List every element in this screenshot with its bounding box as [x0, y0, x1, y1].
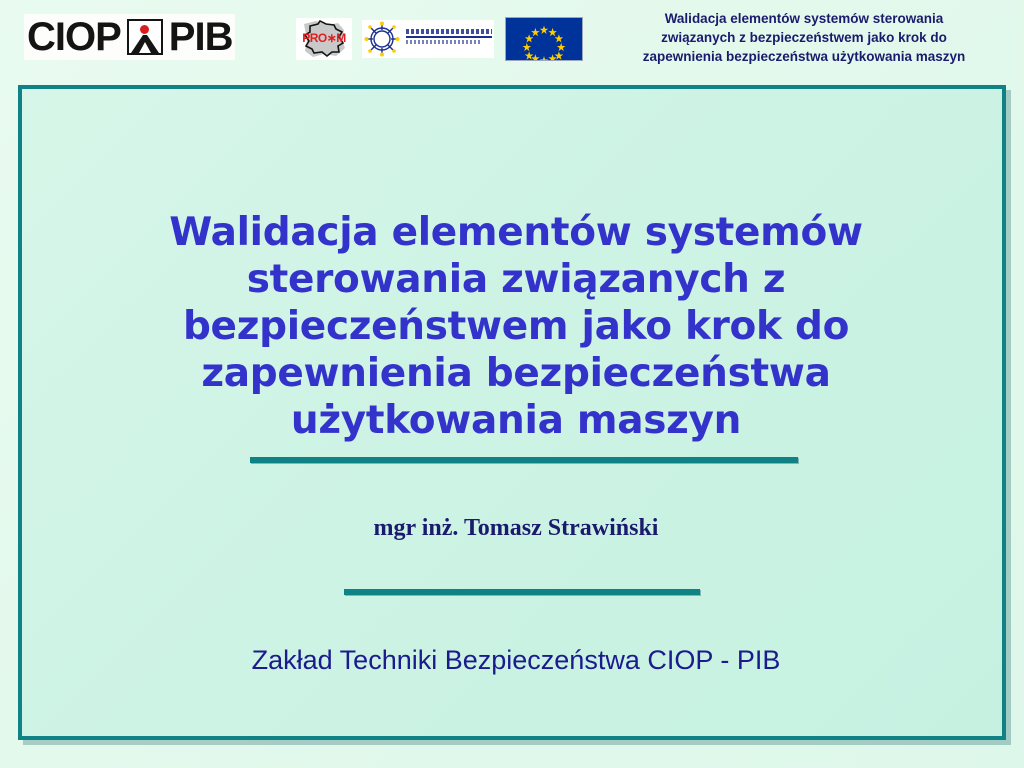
person-figure-icon	[127, 19, 163, 55]
author-name: mgr inż. Tomasz Strawiński	[92, 515, 940, 542]
department-name: Zakład Techniki Bezpieczeństwa CIOP - PI…	[92, 645, 940, 676]
prom-logo-text: PRO∗M	[296, 31, 352, 45]
slide-content-frame: Walidacja elementów systemów sterowania …	[18, 85, 1006, 740]
eu-flag-icon	[505, 17, 583, 61]
title-line: użytkowania maszyn	[92, 397, 940, 444]
header-running-title: Walidacja elementów systemów sterowania …	[592, 9, 1016, 66]
header-title-line: związanych z bezpieczeństwem jako krok d…	[592, 28, 1016, 47]
person-body-arch	[129, 33, 161, 53]
ciop-wordmark-left: CIOP	[27, 17, 121, 57]
header-title-line: Walidacja elementów systemów sterowania	[592, 9, 1016, 28]
logo-text-line-2	[406, 40, 480, 44]
title-line: sterowania związanych z	[92, 256, 940, 303]
header-title-line: zapewnienia bezpieczeństwa użytkowania m…	[592, 47, 1016, 66]
logo-text-line-1	[406, 29, 492, 34]
title-line: bezpieczeństwem jako krok do	[92, 303, 940, 350]
author-divider	[344, 589, 700, 595]
ciop-pib-logo: CIOP PIB	[24, 14, 235, 60]
title-line: Walidacja elementów systemów	[92, 209, 940, 256]
prom-logo: PRO∗M	[296, 18, 352, 60]
ciop-wordmark-right: PIB	[169, 17, 233, 57]
slide-header: CIOP PIB PRO∗M	[0, 0, 1024, 78]
title-divider	[250, 457, 798, 463]
page-title: Walidacja elementów systemów sterowania …	[92, 209, 940, 444]
title-line: zapewnienia bezpieczeństwa	[92, 350, 940, 397]
eu-stars	[506, 18, 582, 60]
gear-stars-icon	[364, 21, 400, 57]
presentation-slide: CIOP PIB PRO∗M	[0, 0, 1024, 768]
eu-programme-logo-text	[406, 29, 492, 44]
eu-programme-logo	[362, 20, 494, 58]
logo-divider	[406, 36, 492, 38]
